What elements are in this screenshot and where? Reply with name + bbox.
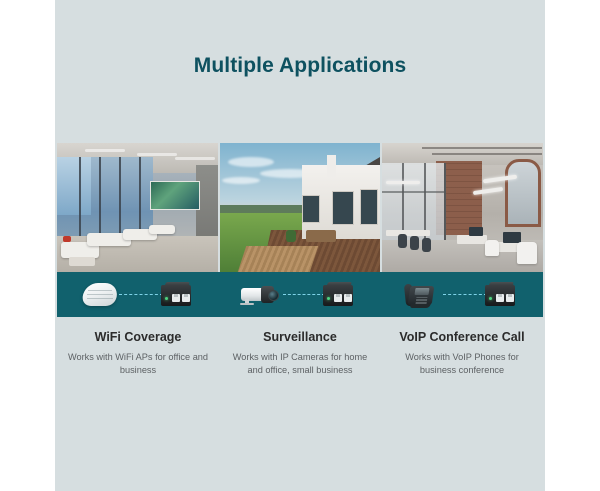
application-showcase-page: Multiple Applications [0, 0, 600, 491]
partition-mullion [424, 163, 426, 249]
caption-title: VoIP Conference Call [387, 330, 537, 344]
monitor [469, 227, 483, 236]
conference-chair [410, 236, 419, 250]
phone-stand [409, 304, 430, 308]
photo-voip-conference [382, 143, 543, 272]
monitor [503, 232, 521, 243]
potted-plant [286, 230, 296, 242]
phone-keypad [416, 297, 428, 304]
conference-table [386, 230, 430, 236]
device-pair-voip-conference [381, 272, 543, 317]
house-window [332, 191, 354, 225]
rj45-port [344, 294, 352, 302]
caption-wifi-coverage: WiFi Coverage Works with WiFi APs for of… [57, 330, 219, 378]
device-pair-wifi-coverage [57, 272, 219, 317]
ap-ridge [88, 290, 112, 291]
caption-description: Works with IP Cameras for home and offic… [225, 351, 375, 378]
camera-lens [268, 290, 279, 301]
partition-rail [382, 191, 444, 193]
ceiling-light [85, 149, 125, 152]
caption-description: Works with VoIP Phones for business conf… [387, 351, 537, 378]
house-window [302, 195, 320, 223]
status-led [327, 297, 330, 300]
page-title: Multiple Applications [0, 54, 600, 78]
cloud [228, 157, 274, 167]
ceiling-beam [422, 147, 542, 149]
caption-title: WiFi Coverage [63, 330, 213, 344]
caption-description: Works with WiFi APs for office and busin… [63, 351, 213, 378]
sofa [149, 225, 175, 234]
voip-phone-icon [405, 280, 437, 310]
rj45-port [182, 294, 190, 302]
office-chair [485, 240, 499, 256]
status-led [489, 297, 492, 300]
caption-voip-conference: VoIP Conference Call Works with VoIP Pho… [381, 330, 543, 378]
poe-injector-icon [323, 282, 353, 307]
pendant-light [386, 181, 420, 184]
wall-artwork [150, 181, 200, 210]
rj45-port [334, 294, 342, 302]
wifi-access-point-icon [83, 283, 117, 306]
rj45-port [496, 294, 504, 302]
poe-injector-icon [161, 282, 191, 307]
deck-steps [237, 246, 317, 272]
house-window [360, 189, 378, 225]
patio-furniture [306, 230, 336, 242]
phone-screen [415, 288, 430, 295]
cloud [222, 177, 260, 184]
caption-surveillance: Surveillance Works with IP Cameras for h… [219, 330, 381, 378]
status-led [165, 297, 168, 300]
photo-surveillance [220, 143, 381, 272]
rj45-port [172, 294, 180, 302]
photo-strip [57, 143, 543, 272]
decor-accent [63, 236, 71, 242]
ip-camera-icon [239, 284, 279, 305]
ap-ridge [87, 294, 113, 295]
caption-title: Surveillance [225, 330, 375, 344]
rj45-port [506, 294, 514, 302]
connection-link [443, 294, 487, 295]
coffee-table [69, 257, 95, 266]
conference-chair [422, 238, 431, 252]
connection-link [283, 294, 325, 295]
connection-link [119, 294, 163, 295]
camera-base [240, 303, 254, 305]
ceiling-beam [432, 153, 542, 155]
ap-ridge [87, 298, 113, 299]
arched-window [505, 159, 541, 227]
device-pair-surveillance [219, 272, 381, 317]
conference-chair [398, 234, 407, 248]
caption-row: WiFi Coverage Works with WiFi APs for of… [57, 330, 543, 378]
office-chair [517, 242, 537, 264]
office-desk [457, 235, 487, 244]
ceiling-light [175, 157, 215, 160]
ceiling-light [137, 153, 177, 156]
poe-injector-icon [485, 282, 515, 307]
sky-view [57, 157, 91, 215]
chimney [327, 155, 336, 177]
device-diagram-band [57, 272, 543, 317]
photo-wifi-coverage [57, 143, 218, 272]
